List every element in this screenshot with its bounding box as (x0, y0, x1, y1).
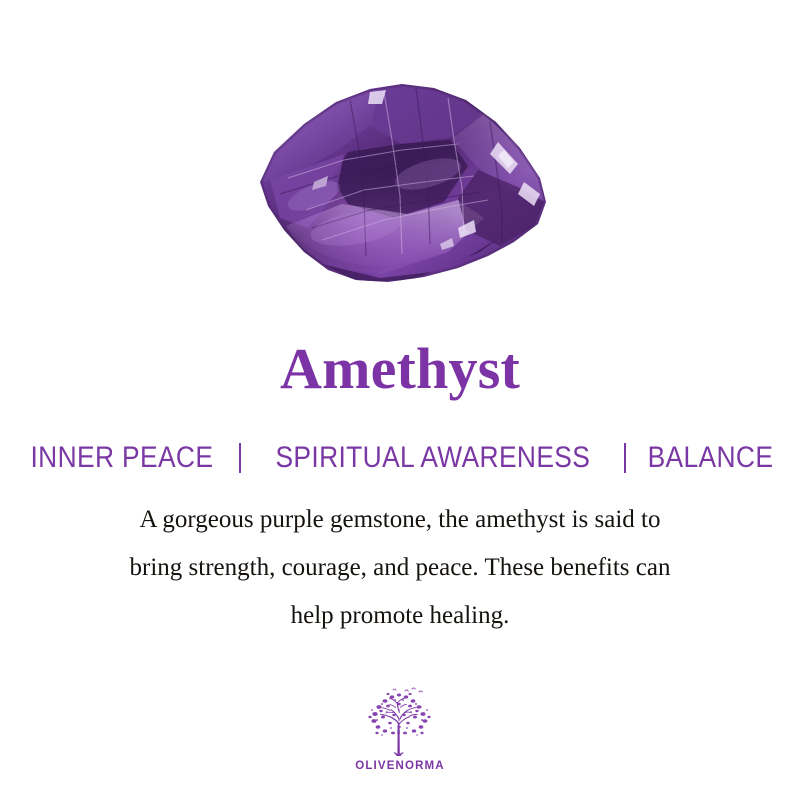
keyword-separator-icon (239, 443, 241, 473)
keyword-inner-peace: INNER PEACE (30, 441, 213, 475)
brand-wordmark: OLIVENORMA (355, 760, 444, 772)
birds-icon (393, 688, 422, 692)
brand-logo: OLIVENORMA (0, 686, 800, 772)
description-line: A gorgeous purple gemstone, the amethyst… (0, 496, 800, 544)
hero-image-area (0, 0, 800, 320)
keyword-spiritual-awareness: SPIRITUAL AWARENESS (275, 441, 590, 475)
keyword-balance: BALANCE (648, 441, 774, 475)
tree-of-life-icon (357, 686, 443, 758)
keyword-strip: INNER PEACE SPIRITUAL AWARENESS BALANCE (0, 441, 800, 475)
keyword-separator-icon (624, 443, 626, 473)
description-line: help promote healing. (0, 592, 800, 640)
page-title: Amethyst (0, 339, 800, 400)
description-text: A gorgeous purple gemstone, the amethyst… (0, 496, 800, 640)
amethyst-crystal-image (252, 78, 552, 290)
amethyst-info-card: Amethyst INNER PEACE SPIRITUAL AWARENESS… (0, 0, 800, 800)
description-line: bring strength, courage, and peace. Thes… (0, 544, 800, 592)
amethyst-crystal-svg (252, 78, 552, 290)
